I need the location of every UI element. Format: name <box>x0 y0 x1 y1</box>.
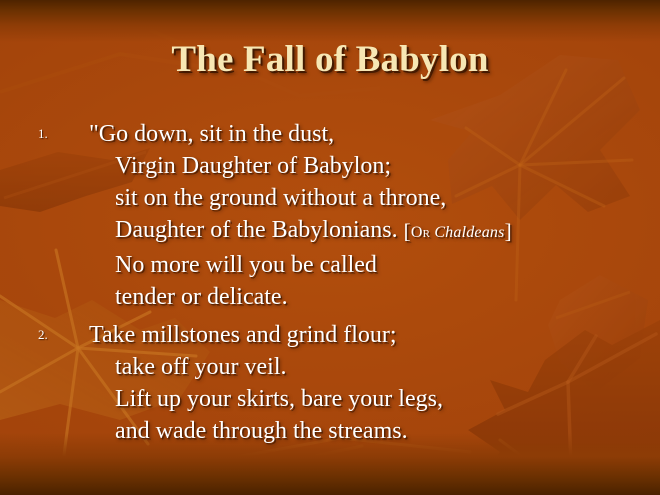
stanza-number: 2. <box>38 328 48 341</box>
poem-line: Lift up your skirts, bare your legs, <box>89 383 646 415</box>
poem-line: No more will you be called <box>89 249 646 281</box>
stanza-number: 1. <box>38 127 48 140</box>
poem-line: tender or delicate. <box>89 281 646 313</box>
poem-line: "Go down, sit in the dust, <box>89 118 646 150</box>
note-term: Chaldeans <box>434 224 504 241</box>
note-bracket-close: ] <box>505 219 512 243</box>
poem-line: sit on the ground without a throne, <box>89 182 646 214</box>
presentation-slide: The Fall of Babylon 1. "Go down, sit in … <box>0 0 660 495</box>
stanza-2: 2. Take millstones and grind flour; take… <box>0 319 660 447</box>
stanza-lines: Take millstones and grind flour; take of… <box>89 319 660 447</box>
poem-line: and wade through the streams. <box>89 415 646 447</box>
stanza-lines: "Go down, sit in the dust, Virgin Daught… <box>89 118 660 313</box>
poem-line: Take millstones and grind flour; <box>89 319 646 351</box>
stanza-1: 1. "Go down, sit in the dust, Virgin Dau… <box>0 118 660 313</box>
slide-body: 1. "Go down, sit in the dust, Virgin Dau… <box>0 118 660 453</box>
slide-title: The Fall of Babylon <box>0 38 660 81</box>
translation-note: [Or Chaldeans] <box>404 224 512 241</box>
poem-line-with-note: Daughter of the Babylonians. [Or Chaldea… <box>89 214 646 249</box>
note-bracket-open: [ <box>404 219 411 243</box>
poem-line: take off your veil. <box>89 351 646 383</box>
poem-line-text: Daughter of the Babylonians. <box>115 217 398 243</box>
poem-line: Virgin Daughter of Babylon; <box>89 150 646 182</box>
note-or-label: Or <box>411 224 430 241</box>
top-vignette <box>0 0 660 42</box>
